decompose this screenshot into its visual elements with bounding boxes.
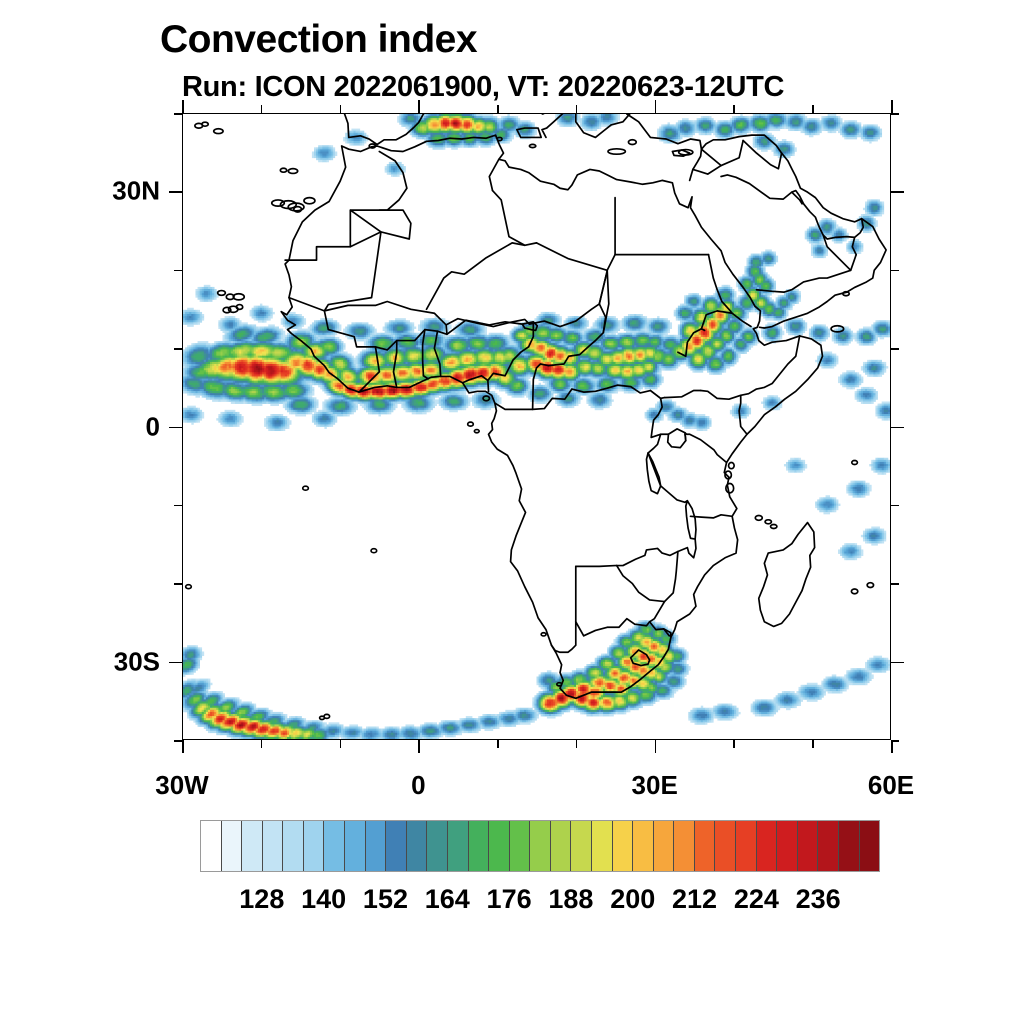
x-tick xyxy=(733,740,735,748)
page-title: Convection index xyxy=(160,18,477,62)
x-axis-label: 30W xyxy=(155,770,208,801)
y-tick xyxy=(174,505,182,507)
y-tick-right xyxy=(891,191,904,193)
colorbar-band xyxy=(366,821,387,871)
y-tick-right xyxy=(891,740,899,742)
colorbar-tick-label: 200 xyxy=(610,884,655,915)
colorbar-band xyxy=(530,821,551,871)
y-tick-right xyxy=(891,662,904,664)
y-tick-right xyxy=(891,583,899,585)
y-tick xyxy=(169,662,182,664)
colorbar-band xyxy=(839,821,860,871)
x-tick xyxy=(497,740,499,748)
colorbar-band xyxy=(386,821,407,871)
colorbar-band xyxy=(448,821,469,871)
colorbar-band xyxy=(201,821,222,871)
colorbar-band xyxy=(489,821,510,871)
y-axis-labels: 30N030S xyxy=(90,0,160,1024)
colorbar-band xyxy=(715,821,736,871)
colorbar-band xyxy=(427,821,448,871)
colorbar-tick-label: 176 xyxy=(487,884,532,915)
y-tick-right xyxy=(891,113,899,115)
colorbar-tick-label: 140 xyxy=(301,884,346,915)
colorbar-band xyxy=(551,821,572,871)
y-axis-label: 30S xyxy=(114,646,160,677)
y-tick xyxy=(174,113,182,115)
colorbar-tick-label: 164 xyxy=(425,884,470,915)
x-tick xyxy=(340,740,342,748)
x-tick-top xyxy=(497,105,499,113)
x-tick-top xyxy=(733,105,735,113)
colorbar-band xyxy=(283,821,304,871)
y-tick xyxy=(174,270,182,272)
colorbar-band xyxy=(407,821,428,871)
y-tick xyxy=(169,191,182,193)
x-tick-top xyxy=(576,105,578,113)
x-tick-top xyxy=(261,105,263,113)
x-tick xyxy=(576,740,578,748)
colorbar-tick-label: 128 xyxy=(239,884,284,915)
country-borders-overlay xyxy=(183,114,890,739)
x-tick-top xyxy=(340,105,342,113)
colorbar-band xyxy=(242,821,263,871)
colorbar-tick-label: 212 xyxy=(672,884,717,915)
x-tick xyxy=(891,740,893,753)
colorbar-band xyxy=(654,821,675,871)
y-axis-label: 0 xyxy=(146,411,160,442)
colorbar-band xyxy=(633,821,654,871)
x-tick-top xyxy=(655,100,657,113)
colorbar-band xyxy=(695,821,716,871)
y-tick-right xyxy=(891,505,899,507)
page-subtitle: Run: ICON 2022061900, VT: 20220623-12UTC xyxy=(182,71,784,104)
y-tick-right xyxy=(891,348,899,350)
x-tick-top xyxy=(812,105,814,113)
colorbar-band xyxy=(777,821,798,871)
y-axis-label: 30N xyxy=(112,176,160,207)
colorbar-labels: 128140152164176188200212224236 xyxy=(200,884,880,918)
y-tick xyxy=(174,740,182,742)
colorbar-band xyxy=(818,821,839,871)
colorbar-band xyxy=(674,821,695,871)
figure-canvas: Convection index Run: ICON 2022061900, V… xyxy=(0,0,1024,1024)
x-axis-label: 0 xyxy=(411,770,425,801)
colorbar-band xyxy=(469,821,490,871)
colorbar-band xyxy=(860,821,880,871)
x-tick-top xyxy=(418,100,420,113)
colorbar-band xyxy=(263,821,284,871)
colorbar-tick-label: 152 xyxy=(363,884,408,915)
colorbar-band xyxy=(345,821,366,871)
colorbar-band xyxy=(571,821,592,871)
y-tick-right xyxy=(891,427,904,429)
colorbar-tick-label: 236 xyxy=(796,884,841,915)
x-tick-top xyxy=(182,100,184,113)
x-tick xyxy=(812,740,814,748)
colorbar-band xyxy=(757,821,778,871)
colorbar[interactable] xyxy=(200,820,880,872)
x-axis-label: 30E xyxy=(632,770,678,801)
colorbar-band xyxy=(736,821,757,871)
colorbar-band xyxy=(222,821,243,871)
x-tick-top xyxy=(891,100,893,113)
map-plot-area[interactable] xyxy=(182,113,891,740)
y-tick xyxy=(174,583,182,585)
colorbar-band xyxy=(592,821,613,871)
y-tick xyxy=(169,427,182,429)
colorbar-band xyxy=(304,821,325,871)
x-tick xyxy=(261,740,263,748)
colorbar-band xyxy=(510,821,531,871)
colorbar-tick-label: 188 xyxy=(548,884,593,915)
x-axis-label: 60E xyxy=(868,770,914,801)
colorbar-band xyxy=(798,821,819,871)
x-tick xyxy=(182,740,184,753)
x-tick xyxy=(418,740,420,753)
y-tick xyxy=(174,348,182,350)
colorbar-band xyxy=(324,821,345,871)
colorbar-tick-label: 224 xyxy=(734,884,779,915)
x-tick xyxy=(655,740,657,753)
y-tick-right xyxy=(891,270,899,272)
colorbar-band xyxy=(613,821,634,871)
